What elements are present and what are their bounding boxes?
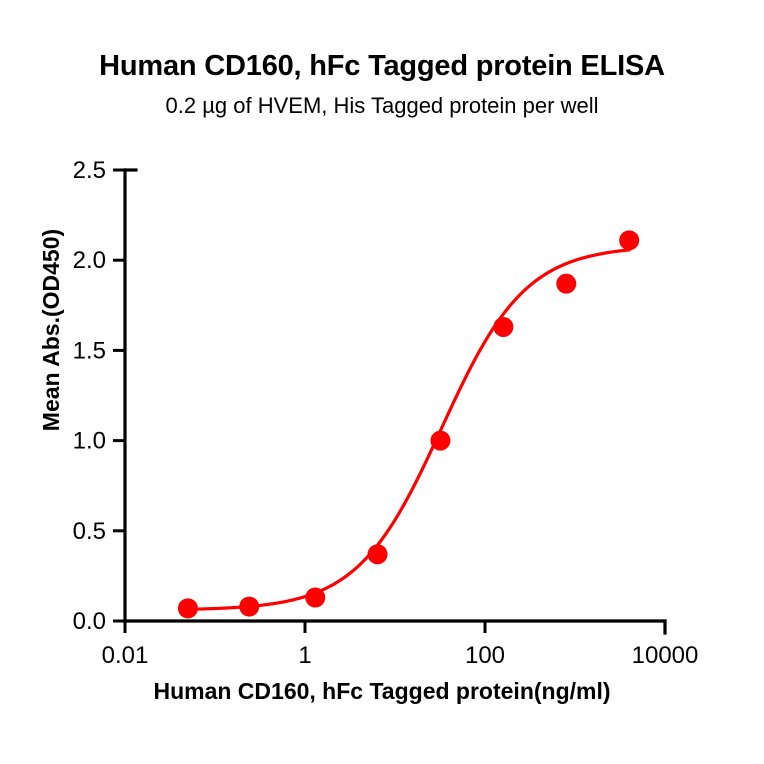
- y-tick-label: 1.0: [73, 428, 106, 455]
- data-point: [178, 598, 198, 618]
- data-point: [368, 544, 388, 564]
- x-tick-label: 100: [465, 642, 505, 669]
- fit-curve: [188, 250, 629, 609]
- data-point: [430, 431, 450, 451]
- y-tick-label: 1.5: [73, 337, 106, 364]
- data-point: [239, 597, 259, 617]
- plot-area: 0.00.51.01.52.02.5 0.01110010000: [0, 0, 764, 764]
- y-tick-label: 0.5: [73, 518, 106, 545]
- y-tick-label: 0.0: [73, 608, 106, 635]
- data-point-group: [178, 230, 639, 618]
- x-tick-label: 1: [298, 642, 311, 669]
- x-tick-group: 0.01110010000: [102, 621, 699, 669]
- y-axis-label: Mean Abs.(OD450): [34, 80, 68, 580]
- data-point: [619, 230, 639, 250]
- x-tick-label: 10000: [632, 642, 699, 669]
- y-tick-group: 0.00.51.01.52.02.5: [73, 157, 125, 635]
- y-tick-label: 2.0: [73, 247, 106, 274]
- data-point: [556, 274, 576, 294]
- y-tick-label: 2.5: [73, 157, 106, 184]
- data-point: [493, 317, 513, 337]
- x-axis-label: Human CD160, hFc Tagged protein(ng/ml): [0, 678, 764, 705]
- x-tick-label: 0.01: [102, 642, 149, 669]
- data-point: [305, 588, 325, 608]
- elisa-chart-figure: Human CD160, hFc Tagged protein ELISA 0.…: [0, 0, 764, 764]
